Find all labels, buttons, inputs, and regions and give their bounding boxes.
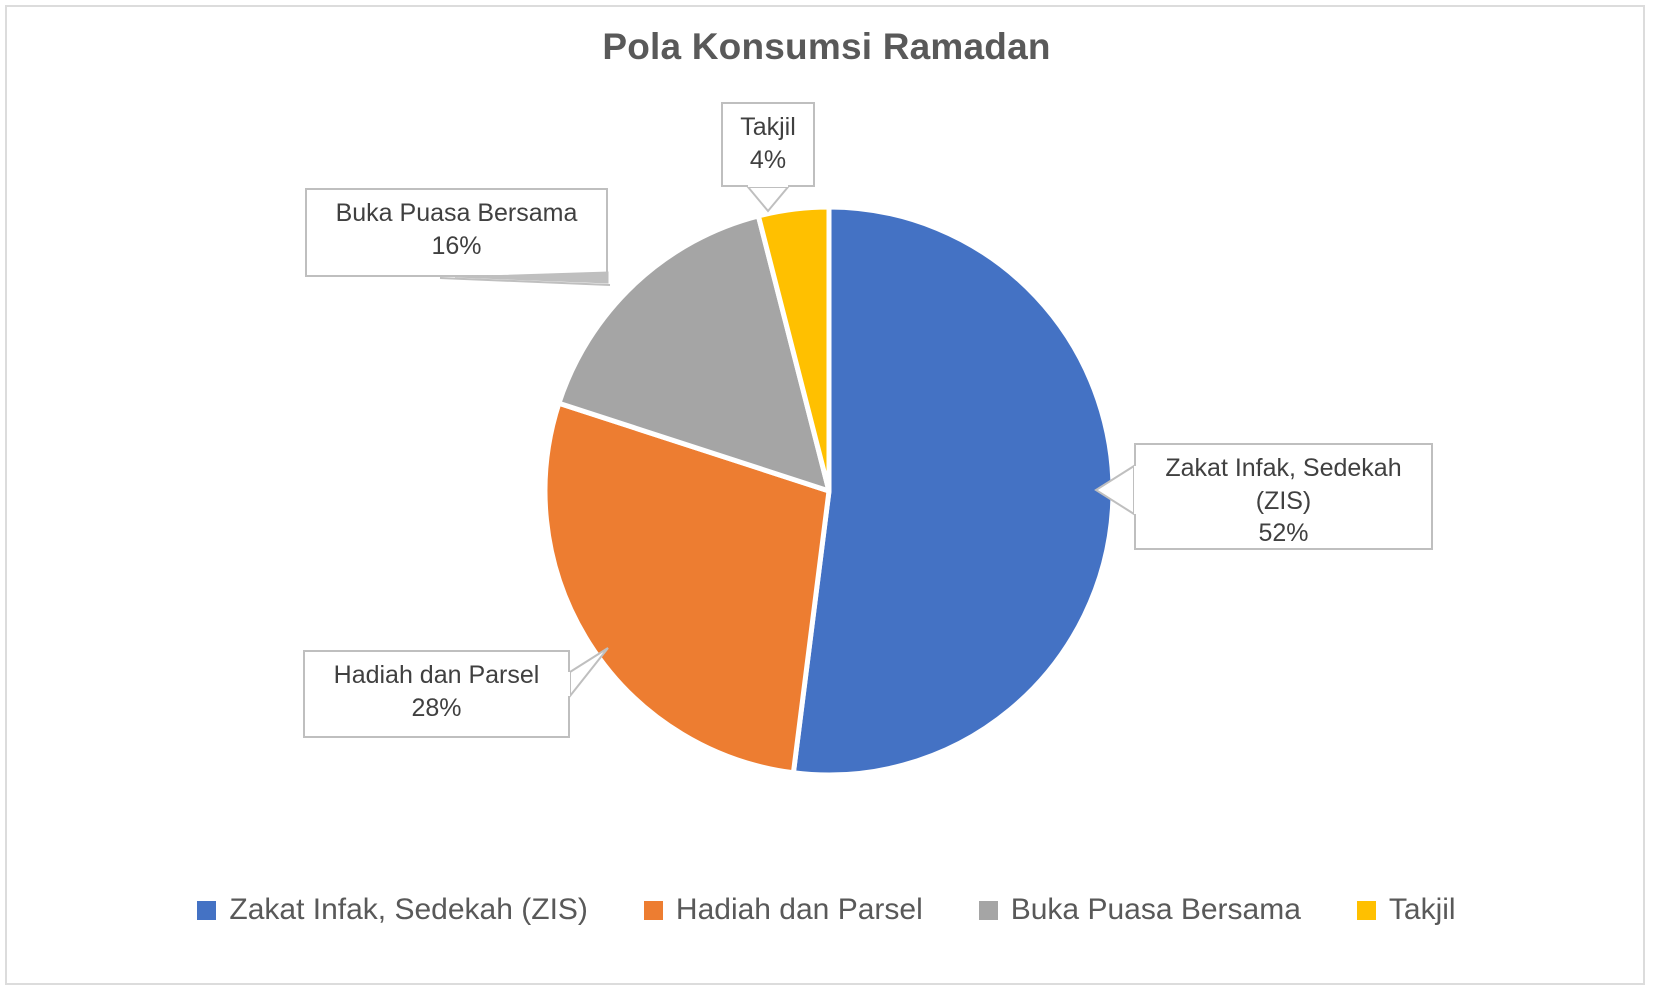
legend-item-hadiah-dan-parsel[interactable]: Hadiah dan Parsel xyxy=(644,893,923,927)
data-label-buka-name: Buka Puasa Bersama xyxy=(317,197,596,230)
chart-legend: Zakat Infak, Sedekah (ZIS)Hadiah dan Par… xyxy=(0,893,1653,927)
legend-item-buka-puasa-bersama[interactable]: Buka Puasa Bersama xyxy=(979,893,1301,927)
data-label-zakat-infak-sedekah: Zakat Infak, Sedekah (ZIS) 52% xyxy=(1134,443,1433,550)
data-label-takjil: Takjil 4% xyxy=(721,102,815,187)
data-label-buka-puasa-bersama: Buka Puasa Bersama 16% xyxy=(305,188,608,277)
data-label-hadiah-name: Hadiah dan Parsel xyxy=(315,659,558,692)
data-label-zis-percent: 52% xyxy=(1146,517,1421,550)
legend-item-label: Takjil xyxy=(1389,893,1456,927)
data-label-hadiah-dan-parsel: Hadiah dan Parsel 28% xyxy=(303,650,570,738)
legend-item-label: Buka Puasa Bersama xyxy=(1011,893,1301,927)
legend-item-takjil[interactable]: Takjil xyxy=(1357,893,1456,927)
legend-swatch-icon xyxy=(979,901,998,920)
data-label-hadiah-percent: 28% xyxy=(315,692,558,725)
data-label-takjil-name: Takjil xyxy=(733,111,803,144)
legend-item-zakat-infak-sedekah-zis[interactable]: Zakat Infak, Sedekah (ZIS) xyxy=(197,893,588,927)
data-label-buka-percent: 16% xyxy=(317,230,596,263)
legend-swatch-icon xyxy=(644,901,663,920)
data-label-zis-name: Zakat Infak, Sedekah (ZIS) xyxy=(1146,452,1421,517)
data-label-takjil-percent: 4% xyxy=(733,144,803,177)
pie-chart-container: Pola Konsumsi Ramadan Zakat Infak, Sedek… xyxy=(0,0,1653,993)
chart-title: Pola Konsumsi Ramadan xyxy=(0,26,1653,68)
legend-item-label: Hadiah dan Parsel xyxy=(676,893,923,927)
legend-item-label: Zakat Infak, Sedekah (ZIS) xyxy=(229,893,588,927)
legend-swatch-icon xyxy=(1357,901,1376,920)
legend-swatch-icon xyxy=(197,901,216,920)
